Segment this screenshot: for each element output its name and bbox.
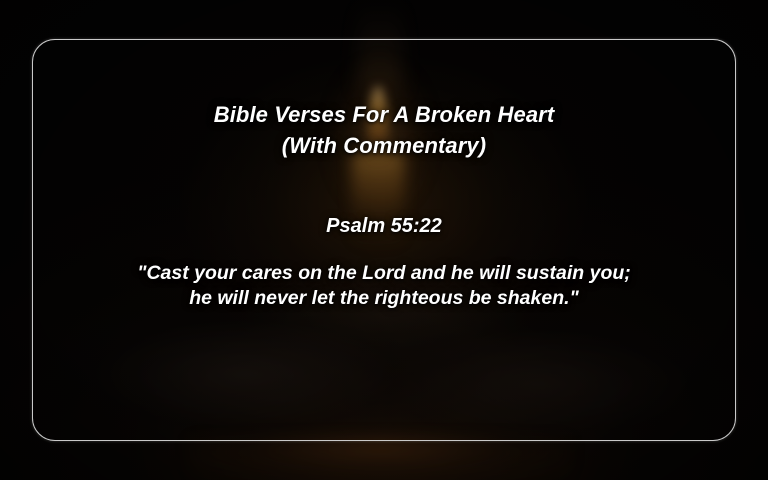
verse-line-1: "Cast your cares on the Lord and he will…	[32, 261, 736, 286]
title-line-1: Bible Verses For A Broken Heart	[32, 99, 736, 130]
verse-line-2: he will never let the righteous be shake…	[32, 286, 736, 311]
slide-content: Bible Verses For A Broken Heart (With Co…	[32, 39, 736, 441]
title-line-2: (With Commentary)	[32, 130, 736, 161]
page-title: Bible Verses For A Broken Heart (With Co…	[32, 99, 736, 161]
floor-glow	[190, 440, 570, 480]
verse-text: "Cast your cares on the Lord and he will…	[32, 261, 736, 311]
verse-reference: Psalm 55:22	[32, 213, 736, 239]
slide-canvas: Bible Verses For A Broken Heart (With Co…	[0, 0, 768, 480]
